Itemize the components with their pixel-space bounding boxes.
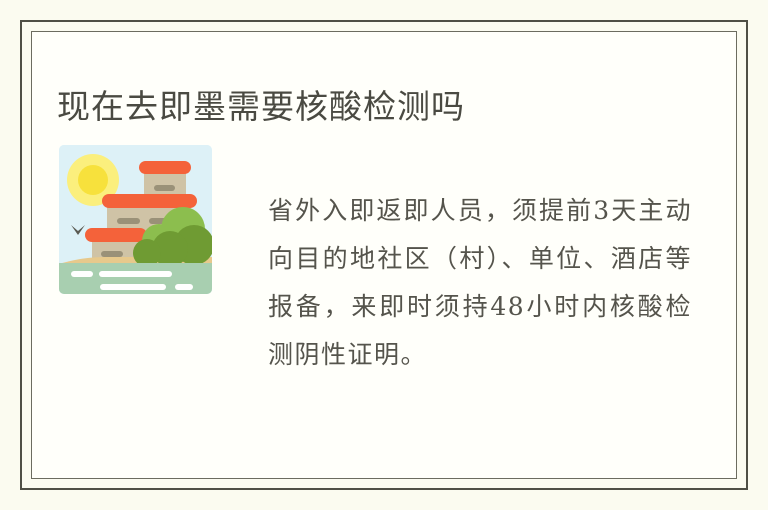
article-card: 现在去即墨需要核酸检测吗 <box>20 20 748 490</box>
article-card-inner-frame: 现在去即墨需要核酸检测吗 <box>31 31 737 479</box>
page-title: 现在去即墨需要核酸检测吗 <box>57 86 465 128</box>
seaside-town-illustration-icon <box>59 145 212 294</box>
article-body-text: 省外入即返即人员，须提前3天主动向目的地社区（村）、单位、酒店等报备，来即时须持… <box>268 187 692 379</box>
